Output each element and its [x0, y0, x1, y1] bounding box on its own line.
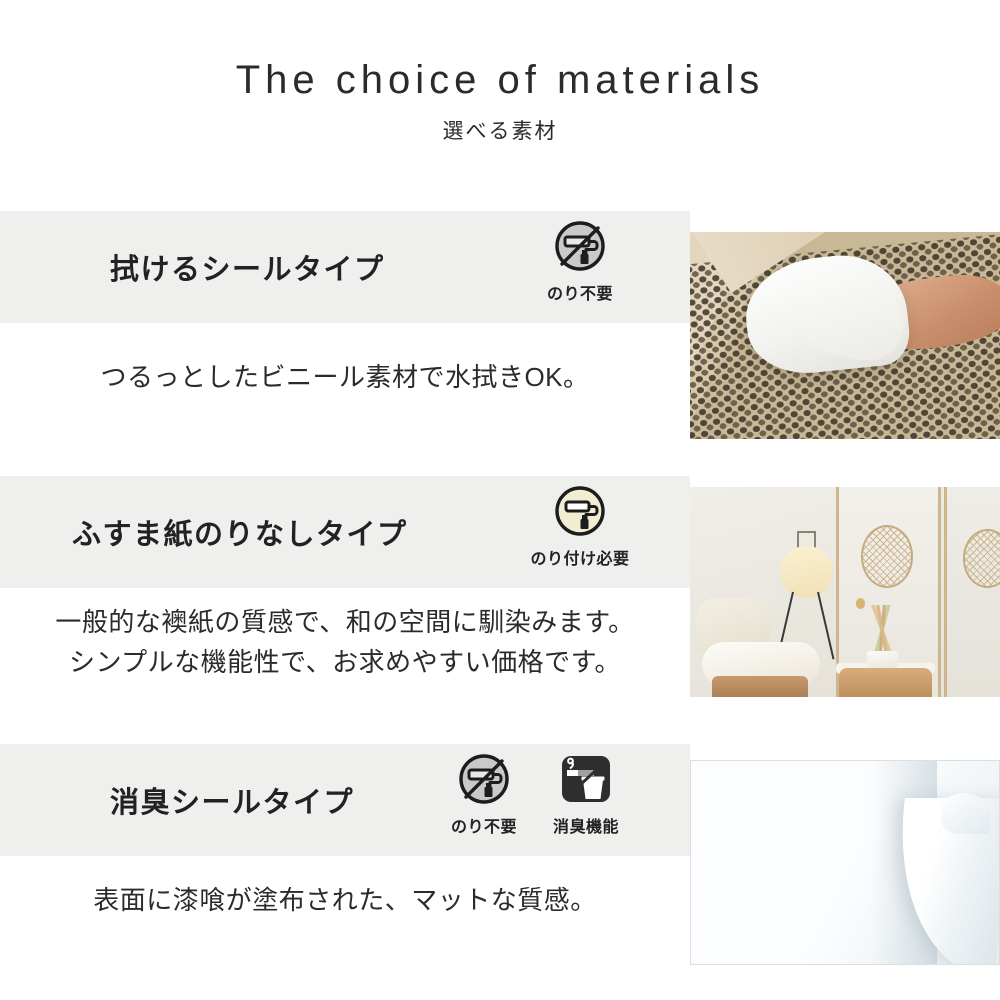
material-section-fusuma-no-glue: ふすま紙のりなしタイプ のり付け必要 一般的な襖紙の質感で、和の空間に馴染みます…: [0, 470, 1000, 738]
badge-label: 消臭機能: [542, 813, 630, 837]
badge-deodorizing: 消臭機能: [542, 752, 630, 837]
section-description: 表面に漆喰が塗布された、マットな質感。: [0, 880, 690, 920]
fusuma-panel-right: [944, 487, 1000, 697]
section-badges: のり付け必要: [516, 484, 644, 569]
badge-no-glue: のり不要: [440, 752, 528, 837]
section-title: 拭けるシールタイプ: [110, 246, 385, 288]
page-subtitle: 選べる素材: [0, 115, 1000, 145]
plant-pot: [867, 651, 898, 670]
armchair-base: [712, 676, 808, 697]
material-section-deodorizing-seal: 消臭シールタイプ のり不要: [0, 738, 1000, 1000]
page-header: The choice of materials 選べる素材: [0, 0, 1000, 205]
no-glue-roller-icon: [551, 219, 609, 277]
section-badges: のり不要 消臭機能: [440, 752, 630, 837]
side-table-body: [839, 668, 932, 697]
section-badges: のり不要: [536, 219, 624, 304]
page-title: The choice of materials: [0, 60, 1000, 100]
material-section-wipeable-seal: 拭けるシールタイプ のり不要 つるっとしたビニール素材で水拭きOK。: [0, 205, 1000, 470]
description-line: 表面に漆喰が塗布された、マットな質感。: [0, 880, 690, 920]
badge-glue-required: のり付け必要: [516, 484, 644, 569]
section-description: つるっとしたビニール素材で水拭きOK。: [0, 357, 690, 397]
description-line: つるっとしたビニール素材で水拭きOK。: [0, 357, 690, 397]
paper-curl-tip: [941, 793, 990, 834]
badge-label: のり付け必要: [516, 545, 644, 569]
paper-lamp-shade: [780, 546, 833, 599]
no-glue-roller-icon: [455, 752, 513, 810]
deodorizing-function-icon: [557, 752, 615, 810]
badge-no-glue: のり不要: [536, 219, 624, 304]
badge-label: のり不要: [536, 280, 624, 304]
fusuma-circle-pattern: [861, 525, 914, 588]
section-description: 一般的な襖紙の質感で、和の空間に馴染みます。 シンプルな機能性で、お求めやすい価…: [0, 602, 690, 683]
description-line: シンプルな機能性で、お求めやすい価格です。: [0, 642, 690, 682]
section-title: 消臭シールタイプ: [110, 779, 354, 821]
badge-label: のり不要: [440, 813, 528, 837]
glue-roller-icon: [551, 484, 609, 542]
japanese-room-fusuma-interior-photo: [690, 487, 1000, 697]
white-curled-paper-sheet-photo: [690, 760, 1000, 965]
section-title: ふすま紙のりなしタイプ: [72, 511, 408, 553]
wiping-cane-mat-with-towel-photo: [690, 232, 1000, 439]
description-line: 一般的な襖紙の質感で、和の空間に馴染みます。: [0, 602, 690, 642]
dried-pampas-grass: [854, 605, 913, 655]
